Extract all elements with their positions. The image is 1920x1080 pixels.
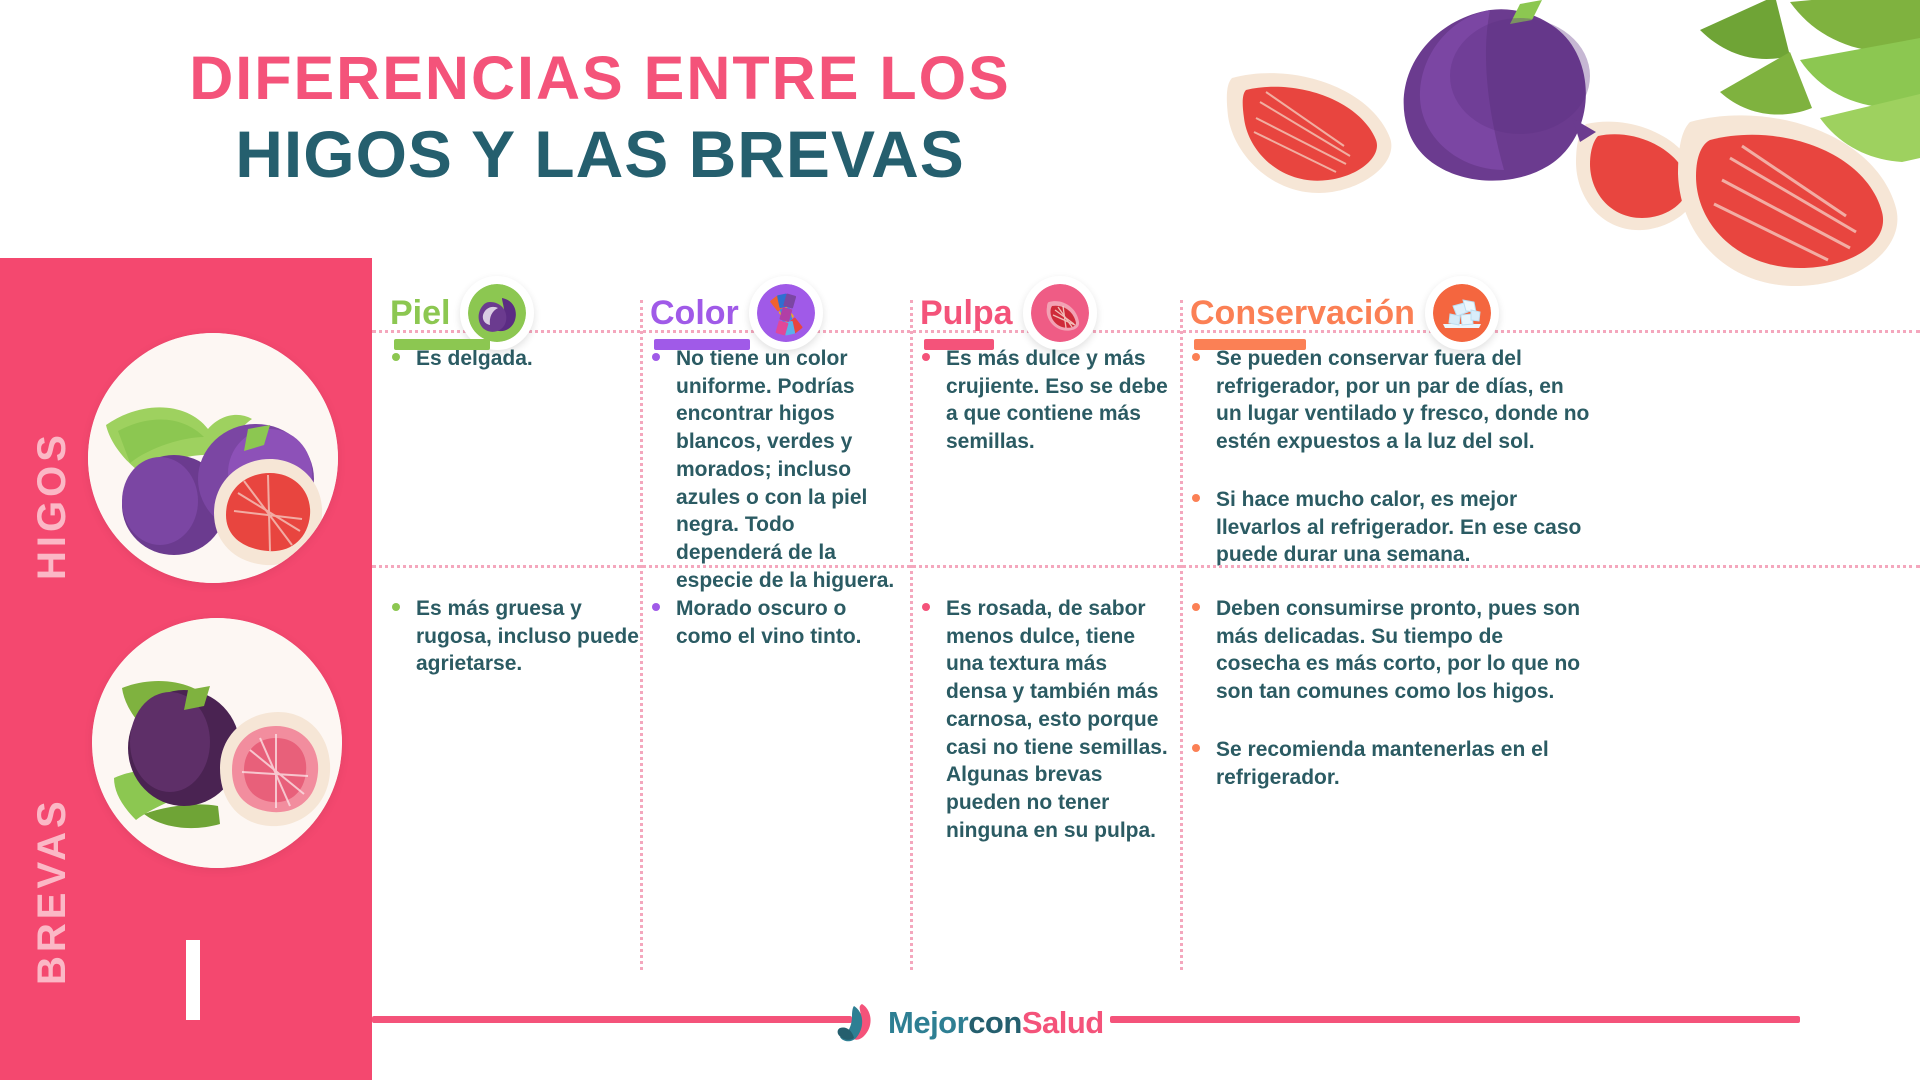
column-underline-piel xyxy=(394,339,490,350)
butterfly-leaf-logo-icon xyxy=(832,1000,878,1046)
column-label-piel: Piel xyxy=(390,296,450,330)
column-header-pulpa: Pulpa xyxy=(920,270,1190,362)
column-header-conservacion: Conservación xyxy=(1190,270,1630,362)
title-line-2: HIGOS Y LAS BREVAS xyxy=(0,118,1200,191)
column-label-conservacion: Conservación xyxy=(1190,296,1415,330)
color-swatch-fan-icon xyxy=(749,276,823,350)
row-label-higos: HIGOS xyxy=(30,431,75,580)
column-label-color: Color xyxy=(650,296,739,330)
brand-logo[interactable]: MejorconSalud xyxy=(832,1000,1104,1046)
brand-part-mejor: Mejor xyxy=(888,1005,968,1040)
column-header-color: Color xyxy=(650,270,920,362)
fruit-slice-icon xyxy=(1023,276,1097,350)
column-underline-conservacion xyxy=(1194,339,1306,350)
footer-rule-right xyxy=(1110,1016,1800,1023)
brand-part-salud: Salud xyxy=(1022,1005,1104,1040)
footer-rule-left xyxy=(372,1016,852,1023)
title-line-1: DIFERENCIAS ENTRE LOS xyxy=(0,46,1200,112)
whole-fig-decoration-icon xyxy=(1370,0,1620,200)
column-underline-color xyxy=(654,339,750,350)
infographic-canvas: HIGOS BREVAS xyxy=(0,0,1920,1080)
page-title: DIFERENCIAS ENTRE LOS HIGOS Y LAS BREVAS xyxy=(0,46,1200,190)
column-label-pulpa: Pulpa xyxy=(920,296,1013,330)
brand-part-con: con xyxy=(968,1005,1022,1040)
brevas-photo-circle xyxy=(92,618,342,868)
ice-cubes-icon xyxy=(1425,276,1499,350)
fig-half-slice-decoration-icon xyxy=(1220,60,1400,200)
comparison-table: Piel Color xyxy=(372,270,1920,1010)
column-header-piel: Piel xyxy=(390,270,660,362)
column-underline-pulpa xyxy=(924,339,994,350)
brand-name: MejorconSalud xyxy=(888,1005,1104,1041)
higos-photo-circle xyxy=(88,333,338,583)
fig-leaf-decoration-icon xyxy=(1490,0,1920,200)
fig-small-slice-decoration-icon xyxy=(1570,110,1710,240)
row-label-brevas: BREVAS xyxy=(30,797,75,985)
fig-large-slice-decoration-icon xyxy=(1670,100,1900,290)
sidebar-bottom-notch xyxy=(186,940,200,1020)
